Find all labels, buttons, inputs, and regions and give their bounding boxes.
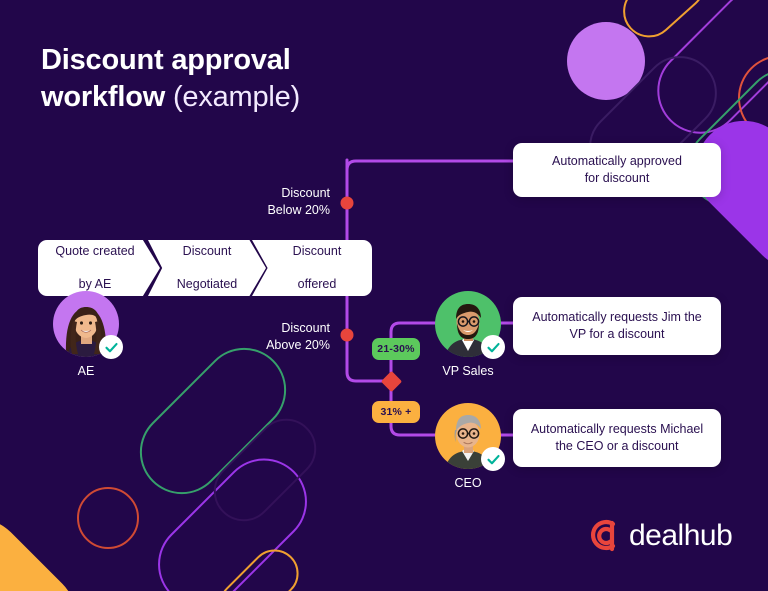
decision-dot-below-20 (341, 197, 354, 210)
badge-range-21-30: 21-30% (372, 338, 420, 360)
dealhub-spiral-icon (586, 519, 620, 553)
outcome-auto-approved-line-2: for discount (585, 171, 650, 185)
persona-vp-sales[interactable]: VP Sales (418, 291, 518, 378)
branch-label-below-20: Discount Below 20% (200, 185, 330, 219)
outcome-card-auto-approved[interactable]: Automatically approved for discount (513, 143, 721, 197)
check-icon (481, 335, 505, 359)
outcome-request-ceo-line-2: the CEO or a discount (556, 439, 679, 453)
check-icon (99, 335, 123, 359)
persona-ceo-avatar (435, 403, 501, 469)
persona-ae-avatar (53, 291, 119, 357)
persona-ceo-label: CEO (418, 476, 518, 490)
branch-label-below-20-line-2: Below 20% (267, 203, 330, 217)
outcome-card-request-vp[interactable]: Automatically requests Jim the VP for a … (513, 297, 721, 355)
dealhub-wordmark: dealhub (629, 519, 732, 553)
stage-discount-negotiated-line-2: Negotiated (171, 276, 243, 293)
stage-discount-offered-line-1: Discount (287, 243, 348, 260)
dealhub-logo[interactable]: dealhub (586, 519, 732, 553)
infographic-canvas: Discount approval workflow (example) Quo… (0, 0, 768, 591)
decision-diamond-split (381, 371, 402, 392)
branch-label-above-20-line-1: Discount (281, 321, 330, 335)
persona-vp-sales-label: VP Sales (418, 364, 518, 378)
check-icon (481, 447, 505, 471)
outcome-request-ceo-line-1: Automatically requests Michael (531, 422, 703, 436)
persona-ae-label: AE (36, 364, 136, 378)
branch-label-above-20: Discount Above 20% (200, 320, 330, 354)
outcome-auto-approved-line-1: Automatically approved (552, 154, 682, 168)
outcome-request-vp-line-1: Automatically requests Jim the (532, 310, 702, 324)
outcome-card-request-ceo[interactable]: Automatically requests Michael the CEO o… (513, 409, 721, 467)
outcome-request-vp-line-2: VP for a discount (570, 327, 665, 341)
persona-vp-sales-avatar (435, 291, 501, 357)
stage-discount-negotiated[interactable]: Discount Negotiated (148, 240, 266, 296)
branch-label-below-20-line-1: Discount (281, 186, 330, 200)
decision-dot-above-20 (341, 329, 354, 342)
branch-label-above-20-line-2: Above 20% (266, 338, 330, 352)
persona-ceo[interactable]: CEO (418, 403, 518, 490)
badge-range-31-plus: 31% + (372, 401, 420, 423)
stage-discount-offered-line-2: offered (287, 276, 348, 293)
stage-quote-created[interactable]: Quote created by AE (38, 240, 160, 296)
stage-discount-negotiated-line-1: Discount (171, 243, 243, 260)
stage-quote-created-line-1: Quote created (49, 243, 140, 260)
persona-ae[interactable]: AE (36, 291, 136, 378)
stage-discount-offered[interactable]: Discount offered (252, 240, 372, 296)
